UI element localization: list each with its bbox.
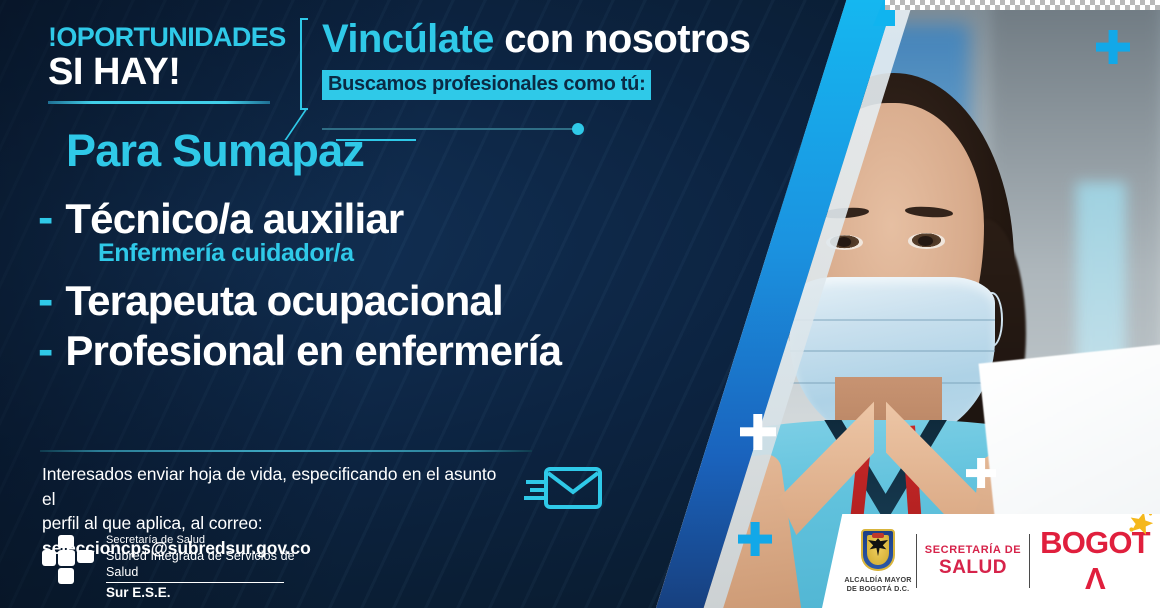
recruitment-poster: !OPORTUNIDADES SI HAY! Vincúlate con nos… — [0, 0, 1160, 608]
job-title: Técnico/a auxiliar — [65, 196, 403, 241]
job-item: - Profesional en enfermería — [38, 328, 638, 373]
oportunidades-block: !OPORTUNIDADES SI HAY! — [48, 24, 298, 104]
subred-line-1: Secretaría de Salud — [106, 533, 312, 548]
job-item: - Terapeuta ocupacional — [38, 278, 638, 323]
job-dash: - — [38, 199, 53, 236]
footer-logo-row: ALCALDÍA MAYOR DE BOGOTÁ D.C. SECRETARÍA… — [822, 514, 1160, 608]
subred-logo-text: Secretaría de Salud Subred Integrada de … — [106, 533, 312, 600]
secretaria-salud-logo: SECRETARÍA DE SALUD — [917, 544, 1029, 579]
plus-icon-cyan-bottom — [738, 522, 772, 556]
job-subtitle: Enfermería cuidador/a — [98, 239, 638, 268]
checkered-transparency-strip — [885, 0, 1160, 10]
secretaria-line-2: SALUD — [917, 557, 1029, 579]
bogota-coat-of-arms-icon — [861, 529, 895, 571]
headline-big: SI HAY! — [48, 53, 298, 93]
alcaldia-label-line2: DE BOGOTÁ D.C. — [847, 584, 910, 593]
subred-cross-icon — [42, 535, 94, 585]
alcaldia-label: ALCALDÍA MAYOR DE BOGOTÁ D.C. — [840, 575, 916, 593]
bogota-wordmark: BOGOTΛ — [1030, 525, 1160, 597]
job-item: - Técnico/a auxiliar — [38, 196, 638, 241]
bubble-dot-marker — [572, 123, 584, 135]
speech-bubble-bracket — [300, 18, 308, 110]
bubble-subtitle: Buscamos profesionales como tú: — [322, 70, 651, 100]
plus-icon-white-upper — [740, 414, 776, 450]
secretaria-line-1: SECRETARÍA DE — [917, 544, 1029, 556]
job-title: Terapeuta ocupacional — [65, 278, 503, 323]
envelope-icon — [524, 462, 604, 514]
footer-logo-band: ALCALDÍA MAYOR DE BOGOTÁ D.C. SECRETARÍA… — [822, 514, 1160, 608]
contact-line-1: Interesados enviar hoja de vida, especif… — [42, 464, 496, 509]
contact-divider — [40, 450, 532, 452]
contact-line-2: perfil al que aplica, al correo: — [42, 513, 263, 533]
headline-underline — [48, 101, 270, 104]
headline-small: !OPORTUNIDADES — [48, 24, 298, 51]
job-title: Profesional en enfermería — [65, 328, 561, 373]
bubble-title: Vincúlate con nosotros — [322, 18, 750, 60]
plus-icon-cyan-top — [1096, 30, 1130, 64]
alcaldia-logo: ALCALDÍA MAYOR DE BOGOTÁ D.C. — [840, 529, 916, 593]
job-dash: - — [38, 331, 53, 368]
subred-line-3: Sur E.S.E. — [106, 585, 312, 600]
location-title: Para Sumapaz — [66, 125, 364, 177]
footer-divider-1 — [916, 534, 917, 588]
bogota-brand-logo: BOGOTΛ — [1030, 525, 1160, 597]
subred-line-2: Subred Integrada de Servicios de Salud — [106, 548, 312, 581]
bubble-title-rest: con nosotros — [494, 17, 751, 61]
alcaldia-label-line1: ALCALDÍA MAYOR — [844, 575, 911, 584]
bubble-title-highlight: Vincúlate — [322, 17, 494, 61]
subred-logo: Secretaría de Salud Subred Integrada de … — [42, 533, 312, 589]
plus-icon-white-lower — [966, 458, 996, 488]
subred-logo-rule — [106, 582, 284, 583]
star-icon — [1128, 511, 1154, 537]
speech-bubble: Vincúlate con nosotros Buscamos profesio… — [300, 18, 770, 128]
bogota-a-glyph: Λ — [1084, 561, 1106, 597]
job-dash: - — [38, 281, 53, 318]
crest-cap — [872, 533, 884, 538]
job-list: - Técnico/a auxiliar Enfermería cuidador… — [38, 196, 638, 373]
